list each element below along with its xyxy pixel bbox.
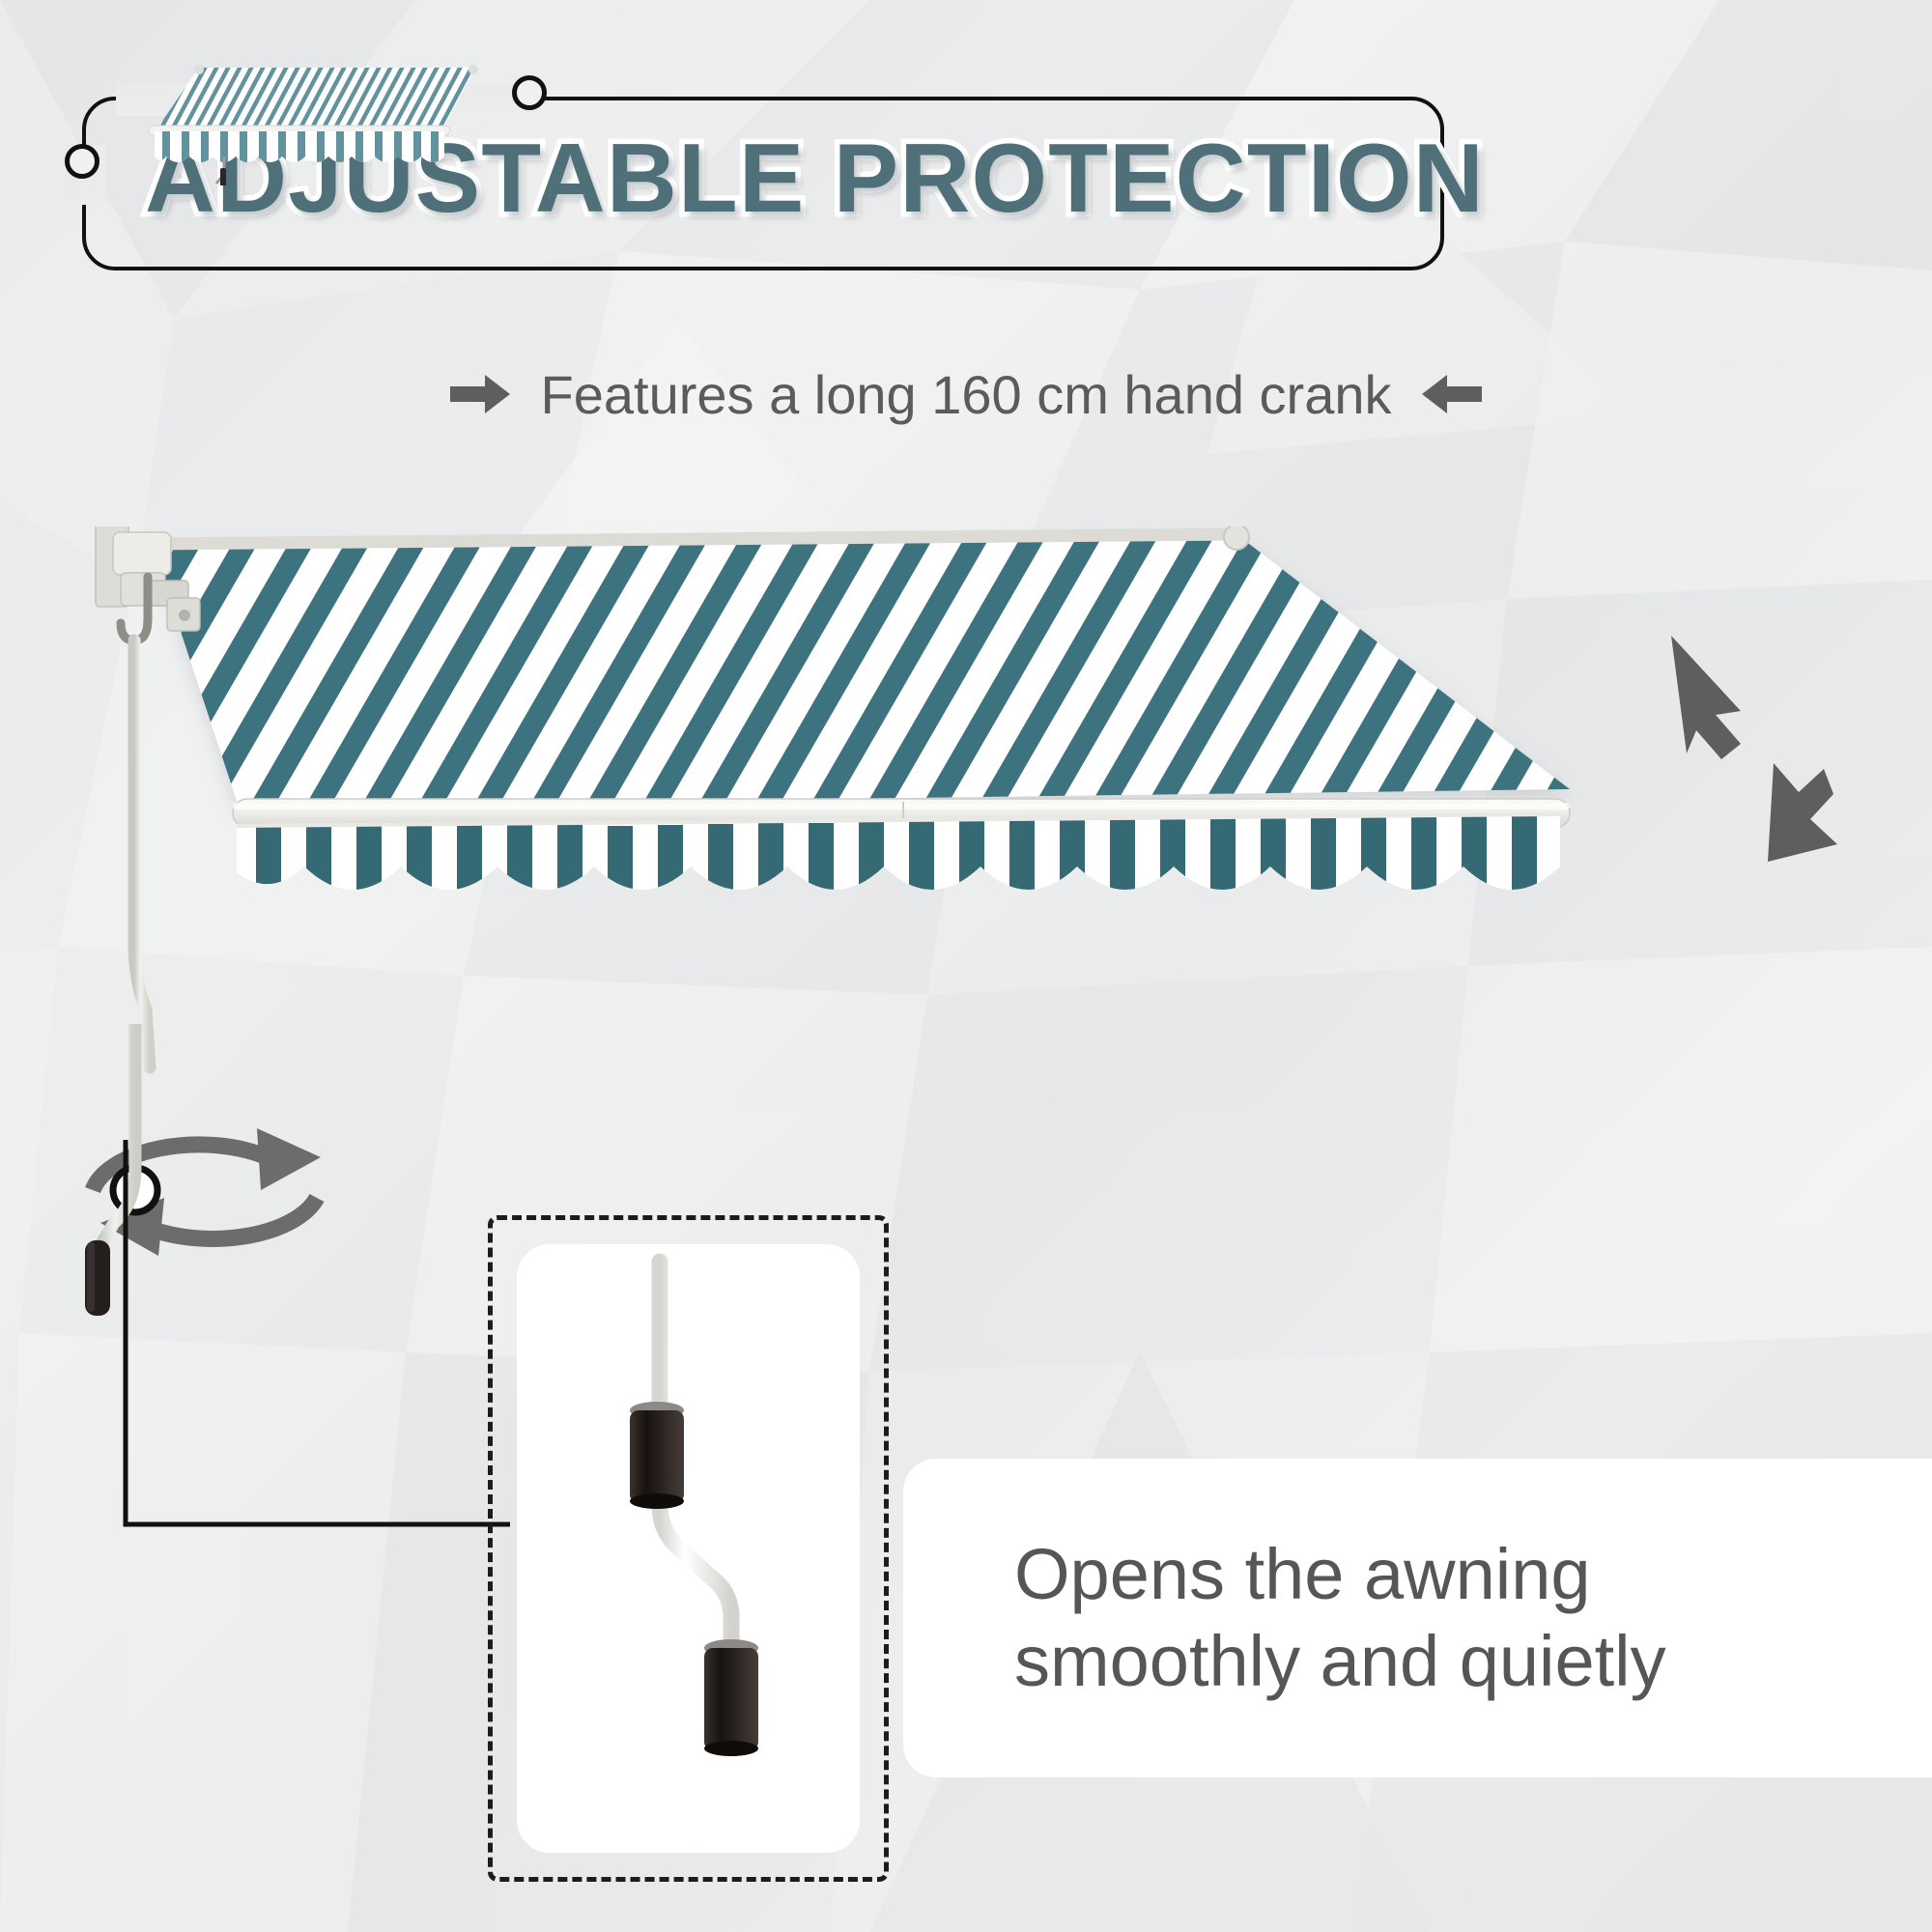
arrow-down-right-icon: [1768, 763, 1837, 862]
subtitle-row: Features a long 160 cm hand crank: [0, 359, 1932, 429]
subtitle-text: Features a long 160 cm hand crank: [541, 363, 1392, 426]
main-awning-illustration: [92, 526, 1647, 1145]
caption-card: Opens the awning smoothly and quietly: [903, 1459, 1932, 1777]
caption-line-1: Opens the awning: [1014, 1531, 1932, 1618]
arrow-left-icon: [1420, 372, 1484, 416]
callout-connector-line: [97, 1140, 512, 1555]
caption-line-2: smoothly and quietly: [1014, 1618, 1932, 1705]
frame-node-top-icon: [512, 75, 547, 110]
crank-grip-lower-icon: [704, 1648, 758, 1750]
crank-closeup-illustration: [517, 1244, 860, 1853]
thumbnail-awning-illustration: [135, 60, 488, 185]
arrow-right-icon: [448, 372, 512, 416]
crank-grip-upper-icon: [630, 1410, 684, 1503]
extend-retract-arrows: [1633, 618, 1874, 908]
crank-rod: [134, 640, 150, 1067]
infographic-canvas: ADJUSTABLE PROTECTION: [0, 0, 1932, 1932]
arrow-up-left-icon: [1671, 636, 1741, 759]
frame-node-left-icon: [65, 144, 99, 179]
